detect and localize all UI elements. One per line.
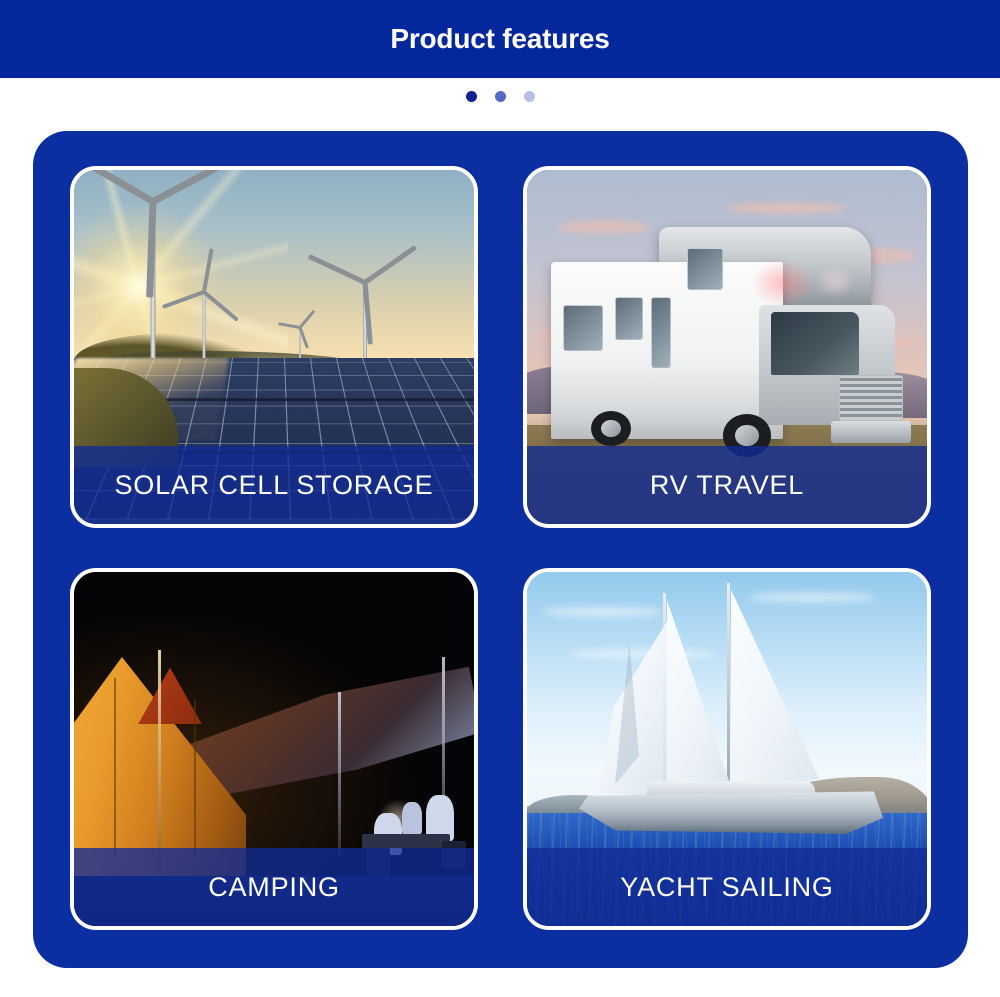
feature-card-solar-cell-storage[interactable]: SOLAR CELL STORAGE — [70, 166, 478, 528]
carousel-dot-1[interactable] — [466, 91, 477, 102]
carousel-dot-3[interactable] — [524, 91, 535, 102]
card-label: CAMPING — [208, 872, 340, 903]
page-header: Product features — [0, 0, 1000, 78]
wind-turbine-icon — [150, 198, 156, 382]
features-panel: SOLAR CELL STORAGE — [33, 131, 968, 968]
feature-card-rv-travel[interactable]: RV TRAVEL — [523, 166, 931, 528]
card-label-band: RV TRAVEL — [527, 446, 927, 524]
card-label: RV TRAVEL — [650, 470, 804, 501]
card-label: YACHT SAILING — [620, 872, 833, 903]
card-label-band: CAMPING — [74, 848, 474, 926]
card-label-band: YACHT SAILING — [527, 848, 927, 926]
feature-card-yacht-sailing[interactable]: YACHT SAILING — [523, 568, 931, 930]
card-label: SOLAR CELL STORAGE — [114, 470, 433, 501]
page-title: Product features — [390, 23, 609, 55]
product-features-page: Product features — [0, 0, 1000, 997]
carousel-dots — [0, 86, 1000, 106]
carousel-dot-2[interactable] — [495, 91, 506, 102]
feature-card-camping[interactable]: CAMPING — [70, 568, 478, 930]
card-label-band: SOLAR CELL STORAGE — [74, 446, 474, 524]
feature-card-grid: SOLAR CELL STORAGE — [70, 166, 931, 930]
